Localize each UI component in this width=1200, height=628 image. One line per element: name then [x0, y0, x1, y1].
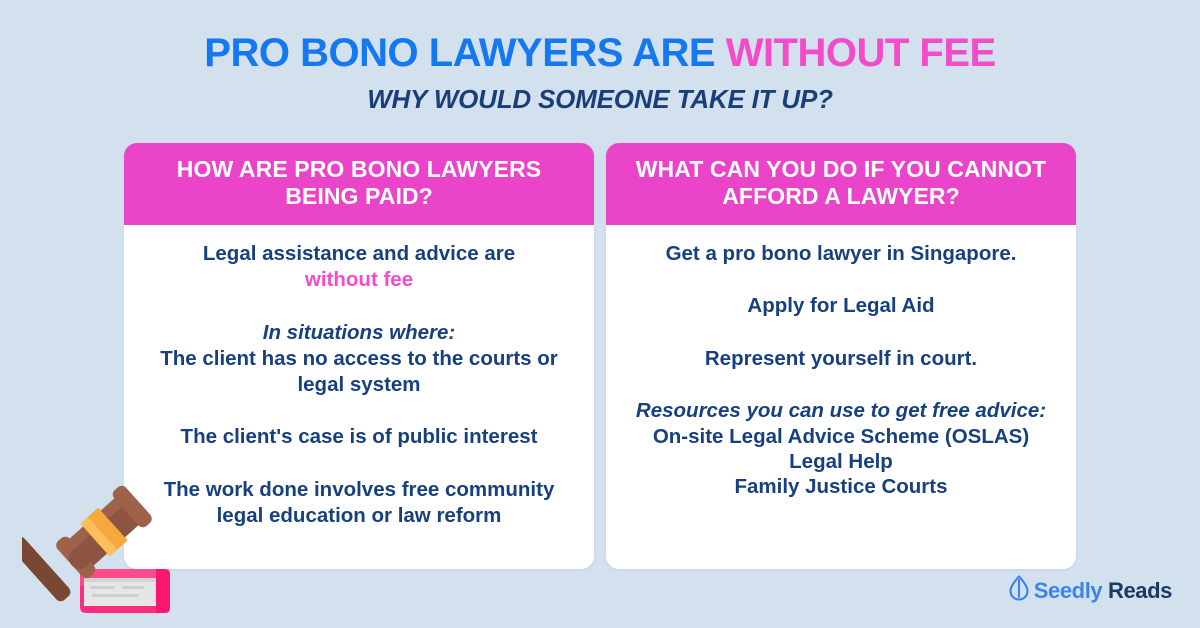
content-block: The work done involves free community le…: [142, 477, 576, 529]
content-line: Get a pro bono lawyer in Singapore.: [624, 241, 1058, 267]
content-line: The client's case is of public interest: [142, 424, 576, 450]
spacer: [142, 468, 576, 477]
content-line: The work done involves free community le…: [142, 477, 576, 529]
card-how-paid-heading: HOW ARE PRO BONO LAWYERS BEING PAID?: [124, 143, 594, 225]
page-title-segment-blue: PRO BONO LAWYERS ARE: [204, 31, 725, 75]
logo-word-seedly: Seedly: [1034, 578, 1103, 603]
gavel-knob: [69, 547, 91, 569]
cards-container: HOW ARE PRO BONO LAWYERS BEING PAID? Leg…: [124, 143, 1076, 569]
content-block: Legal assistance and advice are without …: [142, 241, 576, 293]
content-line: Apply for Legal Aid: [624, 293, 1058, 319]
gavel-on-book-illustration: [22, 470, 202, 620]
spacer: [142, 311, 576, 320]
logo-word-reads: Reads: [1102, 578, 1172, 603]
spacer: [624, 337, 1058, 346]
spacer: [624, 389, 1058, 398]
title-block: PRO BONO LAWYERS ARE WITHOUT FEE WHY WOU…: [0, 32, 1200, 115]
page-title-segment-pink: WITHOUT FEE: [726, 31, 996, 75]
card-cannot-afford: WHAT CAN YOU DO IF YOU CANNOT AFFORD A L…: [606, 143, 1076, 569]
content-line-italic: In situations where:: [142, 320, 576, 346]
gavel-head: [54, 483, 154, 580]
spacer: [624, 284, 1058, 293]
card-cannot-afford-body: Get a pro bono lawyer in Singapore. Appl…: [606, 225, 1076, 569]
infographic-page: PRO BONO LAWYERS ARE WITHOUT FEE WHY WOU…: [0, 0, 1200, 628]
content-line: Family Justice Courts: [624, 474, 1058, 499]
content-line: The client has no access to the courts o…: [142, 346, 576, 398]
logo-wordmark: Seedly Reads: [1034, 580, 1172, 602]
spacer: [142, 415, 576, 424]
content-line-italic: Resources you can use to get free advice…: [624, 398, 1058, 424]
book-shape: [80, 569, 170, 613]
content-block: Apply for Legal Aid: [624, 293, 1058, 319]
page-title: PRO BONO LAWYERS ARE WITHOUT FEE: [0, 32, 1200, 74]
content-line: On-site Legal Advice Scheme (OSLAS): [624, 424, 1058, 449]
content-block: Get a pro bono lawyer in Singapore.: [624, 241, 1058, 267]
page-subtitle: WHY WOULD SOMEONE TAKE IT UP?: [0, 84, 1200, 115]
content-block: Resources you can use to get free advice…: [624, 398, 1058, 499]
content-line: Legal Help: [624, 449, 1058, 474]
card-cannot-afford-heading: WHAT CAN YOU DO IF YOU CANNOT AFFORD A L…: [606, 143, 1076, 225]
seedly-reads-logo[interactable]: Seedly Reads: [1008, 575, 1172, 606]
content-line-emphasis: without fee: [142, 267, 576, 293]
content-line: Legal assistance and advice are: [142, 241, 576, 267]
content-block: The client's case is of public interest: [142, 424, 576, 450]
content-block: Represent yourself in court.: [624, 346, 1058, 372]
seedly-droplet-icon: [1008, 575, 1030, 606]
content-block: In situations where: The client has no a…: [142, 320, 576, 399]
content-line: Represent yourself in court.: [624, 346, 1058, 372]
